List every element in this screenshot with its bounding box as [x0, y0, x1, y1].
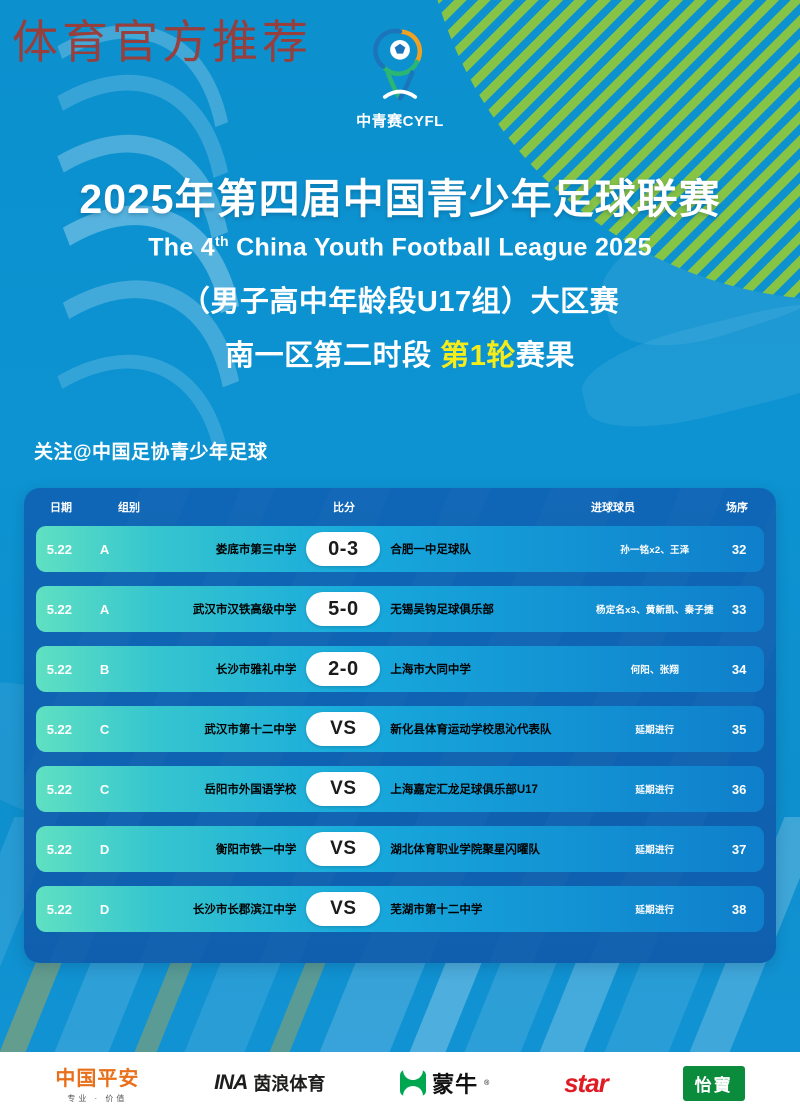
sponsor-pingan-tagline: 专业 · 价值	[67, 1093, 127, 1104]
registered-mark-icon: ®	[484, 1080, 489, 1087]
score-pill: 0-3	[306, 532, 380, 566]
cell-scorer: 延期进行	[595, 782, 714, 796]
cell-away-team: 新化县体育运动学校思沁代表队	[380, 721, 595, 737]
sponsor-ina: INA 茵浪体育	[214, 1070, 325, 1096]
cell-match: 岳阳市外国语学校VS上海嘉定汇龙足球俱乐部U17	[126, 772, 595, 806]
follow-handle: 关注@中国足协青少年足球	[34, 437, 268, 464]
cell-group: B	[83, 662, 127, 677]
table-body: 5.22A娄底市第三中学0-3合肥一中足球队孙一铭x2、王泽325.22A武汉市…	[24, 526, 776, 932]
table-row: 5.22A武汉市汉铁高级中学5-0无锡吴钩足球俱乐部杨定名x3、黄新凯、秦子捷3…	[36, 586, 764, 632]
sponsor-pingan-name: 中国平安	[55, 1062, 139, 1091]
header-score: 比分	[160, 499, 528, 515]
cell-group: D	[83, 842, 127, 857]
cell-group: C	[83, 782, 127, 797]
cell-away-team: 湖北体育职业学院聚星闪曜队	[380, 841, 595, 857]
table-row: 5.22B长沙市雅礼中学2-0上海市大同中学何阳、张翔34	[36, 646, 764, 692]
cell-away-team: 上海市大同中学	[380, 661, 595, 677]
cell-away-team: 无锡吴钩足球俱乐部	[380, 601, 595, 617]
cell-match: 长沙市雅礼中学2-0上海市大同中学	[126, 652, 595, 686]
table-row: 5.22C岳阳市外国语学校VS上海嘉定汇龙足球俱乐部U17延期进行36	[36, 766, 764, 812]
table-row: 5.22D衡阳市铁一中学VS湖北体育职业学院聚星闪曜队延期进行37	[36, 826, 764, 872]
cell-group: A	[83, 542, 127, 557]
subtitle-category: （男子高中年龄段U17组）大区赛	[0, 278, 800, 320]
cell-scorer: 何阳、张翔	[595, 662, 714, 676]
cell-group: A	[83, 602, 127, 617]
cell-date: 5.22	[36, 902, 83, 917]
cell-home-team: 长沙市长郡滨江中学	[126, 901, 306, 917]
subtitle-round: 南一区第二时段 第1轮赛果	[0, 332, 800, 374]
cell-date: 5.22	[36, 722, 83, 737]
cell-order: 33	[714, 602, 764, 617]
cell-home-team: 武汉市汉铁高级中学	[126, 601, 306, 617]
cell-date: 5.22	[36, 842, 83, 857]
cell-match: 衡阳市铁一中学VS湖北体育职业学院聚星闪曜队	[126, 832, 595, 866]
cell-scorer: 延期进行	[595, 902, 714, 916]
cell-match: 娄底市第三中学0-3合肥一中足球队	[126, 532, 595, 566]
sponsor-star-name: star	[564, 1068, 608, 1099]
header-scorer: 进球球员	[528, 499, 698, 515]
sponsor-footer: 中国平安 专业 · 价值 INA 茵浪体育 蒙牛 ® star 怡寶	[0, 1052, 800, 1114]
subtitle-round-pre: 南一区第二时段	[225, 340, 440, 372]
title-en-pre: The 4	[148, 233, 215, 261]
sponsor-mengniu-name: 蒙牛	[432, 1067, 478, 1099]
cell-match: 长沙市长郡滨江中学VS芜湖市第十二中学	[126, 892, 595, 926]
cell-order: 38	[714, 902, 764, 917]
sponsor-ina-mark: INA	[214, 1071, 247, 1095]
sponsor-yibao-name: 怡寶	[683, 1066, 745, 1101]
cell-order: 35	[714, 722, 764, 737]
score-pill: 2-0	[306, 652, 380, 686]
header-group: 组别	[98, 499, 160, 515]
page-title: 2025年第四届中国青少年足球联赛	[0, 176, 800, 223]
subtitle-round-highlight: 第1轮	[440, 340, 516, 372]
poster-root: 体育官方推荐 中青赛CYFL 2025年第四届中国青少年足球联赛 The 4th…	[0, 0, 800, 1114]
cell-order: 34	[714, 662, 764, 677]
cell-away-team: 芜湖市第十二中学	[380, 901, 595, 917]
cell-scorer: 孙一铭x2、王泽	[595, 542, 714, 556]
cell-order: 36	[714, 782, 764, 797]
cell-date: 5.22	[36, 662, 83, 677]
table-header-row: 日期 组别 比分 进球球员 场序	[24, 488, 776, 526]
page-title-en: The 4th China Youth Football League 2025	[0, 233, 800, 262]
score-pill: VS	[306, 772, 380, 806]
cyfl-logo-icon	[361, 24, 439, 106]
cell-scorer: 延期进行	[595, 722, 714, 736]
cell-home-team: 娄底市第三中学	[126, 541, 306, 557]
header-date: 日期	[24, 499, 98, 515]
cell-scorer: 延期进行	[595, 842, 714, 856]
sponsor-star: star	[564, 1068, 608, 1099]
subtitle-round-post: 赛果	[516, 340, 575, 372]
mengniu-badge-icon	[400, 1070, 426, 1096]
cell-group: D	[83, 902, 127, 917]
cell-date: 5.22	[36, 542, 83, 557]
cell-match: 武汉市第十二中学VS新化县体育运动学校思沁代表队	[126, 712, 595, 746]
title-en-post: China Youth Football League 2025	[229, 233, 652, 261]
score-pill: VS	[306, 892, 380, 926]
cell-home-team: 武汉市第十二中学	[126, 721, 306, 737]
cell-date: 5.22	[36, 602, 83, 617]
score-pill: VS	[306, 712, 380, 746]
cell-away-team: 上海嘉定汇龙足球俱乐部U17	[380, 781, 595, 797]
cell-order: 32	[714, 542, 764, 557]
table-row: 5.22C武汉市第十二中学VS新化县体育运动学校思沁代表队延期进行35	[36, 706, 764, 752]
table-row: 5.22D长沙市长郡滨江中学VS芜湖市第十二中学延期进行38	[36, 886, 764, 932]
title-block: 2025年第四届中国青少年足球联赛 The 4th China Youth Fo…	[0, 176, 800, 374]
sponsor-mengniu: 蒙牛 ®	[400, 1067, 489, 1099]
title-en-ordinal: th	[215, 233, 229, 249]
logo-wordmark: 中青赛CYFL	[356, 110, 444, 131]
cell-match: 武汉市汉铁高级中学5-0无锡吴钩足球俱乐部	[126, 592, 595, 626]
sponsor-pingan: 中国平安 专业 · 价值	[55, 1062, 139, 1104]
score-pill: VS	[306, 832, 380, 866]
sponsor-yibao: 怡寶	[683, 1066, 745, 1101]
cell-date: 5.22	[36, 782, 83, 797]
score-pill: 5-0	[306, 592, 380, 626]
cell-group: C	[83, 722, 127, 737]
header-order: 场序	[698, 499, 776, 515]
table-row: 5.22A娄底市第三中学0-3合肥一中足球队孙一铭x2、王泽32	[36, 526, 764, 572]
cell-away-team: 合肥一中足球队	[380, 541, 595, 557]
results-panel: 日期 组别 比分 进球球员 场序 5.22A娄底市第三中学0-3合肥一中足球队孙…	[24, 488, 776, 963]
cell-order: 37	[714, 842, 764, 857]
cell-home-team: 长沙市雅礼中学	[126, 661, 306, 677]
cell-home-team: 衡阳市铁一中学	[126, 841, 306, 857]
cell-scorer: 杨定名x3、黄新凯、秦子捷	[595, 602, 714, 616]
cell-home-team: 岳阳市外国语学校	[126, 781, 306, 797]
sponsor-ina-name: 茵浪体育	[253, 1070, 325, 1096]
watermark-text: 体育官方推荐	[12, 6, 312, 72]
